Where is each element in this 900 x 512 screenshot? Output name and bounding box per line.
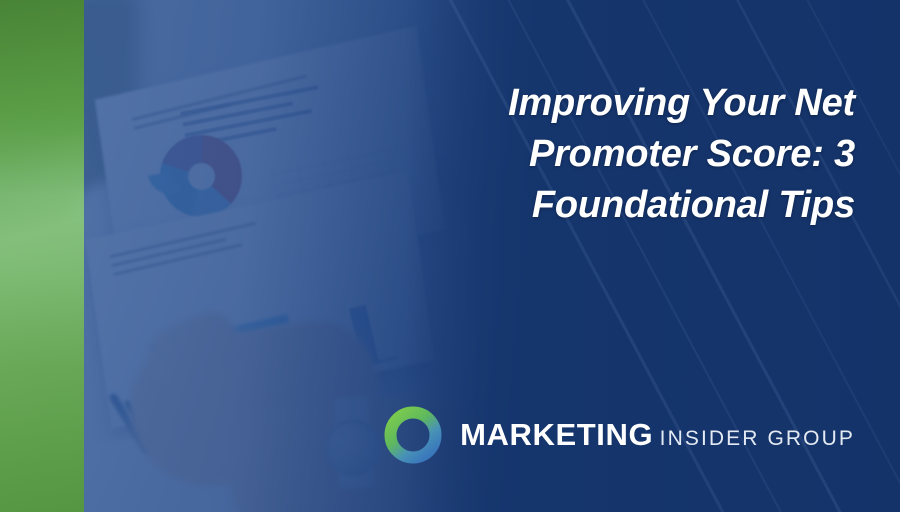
green-accent-bar-shading [0, 0, 84, 512]
brand-logo[interactable]: MARKETING INSIDER GROUP [384, 406, 855, 464]
brand-name: MARKETING [460, 417, 653, 452]
page-title-line-1: Improving Your Net [435, 78, 855, 129]
brand-tagline: INSIDER GROUP [658, 427, 855, 450]
brand-logo-text: MARKETING INSIDER GROUP [460, 419, 855, 452]
ring-icon [384, 406, 442, 464]
page-title-line-2: Promoter Score: 3 [435, 129, 855, 180]
blog-header-banner: Improving Your Net Promoter Score: 3 Fou… [0, 0, 900, 512]
page-title: Improving Your Net Promoter Score: 3 Fou… [435, 78, 855, 231]
page-title-line-3: Foundational Tips [435, 180, 855, 231]
